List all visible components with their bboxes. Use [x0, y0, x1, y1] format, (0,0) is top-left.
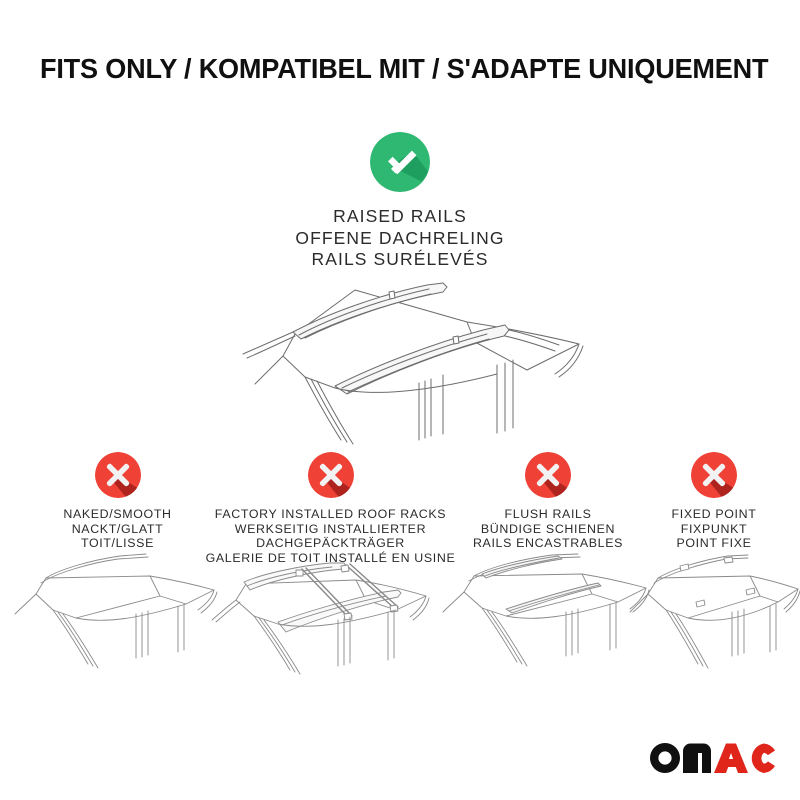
not-compatible-item-naked-smooth: NAKED/SMOOTH NACKT/GLATT TOIT/LISSE	[10, 452, 225, 551]
item-label-fr: POINT FIXE	[628, 536, 800, 551]
compatible-label-en: RAISED RAILS	[0, 206, 800, 228]
item-label-fr: RAILS ENCASTRABLES	[438, 536, 658, 551]
compatible-label-fr: RAILS SURÉLEVÉS	[0, 249, 800, 271]
car-roof-with-flush-rails-illustration	[438, 552, 658, 677]
item-label-en: FIXED POINT	[628, 507, 800, 522]
compatible-label-de: OFFENE DACHRELING	[0, 228, 800, 250]
not-compatible-item-factory-roof-racks: FACTORY INSTALLED ROOF RACKS WERKSEITIG …	[198, 452, 463, 565]
item-label-de: NACKT/GLATT	[10, 522, 225, 537]
item-label-en: FLUSH RAILS	[438, 507, 658, 522]
item-label-fr: TOIT/LISSE	[10, 536, 225, 551]
omac-logo: OMAC	[648, 740, 778, 776]
not-compatible-item-flush-rails: FLUSH RAILS BÜNDIGE SCHIENEN RAILS ENCAS…	[438, 452, 658, 551]
car-roof-with-fixed-points-illustration	[628, 552, 800, 677]
car-roof-with-raised-rails-illustration	[175, 278, 635, 458]
item-label-de: BÜNDIGE SCHIENEN	[438, 522, 658, 537]
item-labels: FIXED POINT FIXPUNKT POINT FIXE	[628, 507, 800, 551]
not-compatible-item-fixed-point: FIXED POINT FIXPUNKT POINT FIXE	[628, 452, 800, 551]
x-circle-icon	[95, 452, 141, 498]
item-label-en: FACTORY INSTALLED ROOF RACKS	[198, 507, 463, 522]
item-label-de: FIXPUNKT	[628, 522, 800, 537]
check-circle-icon	[370, 132, 430, 192]
item-label-en: NAKED/SMOOTH	[10, 507, 225, 522]
item-labels: NAKED/SMOOTH NACKT/GLATT TOIT/LISSE	[10, 507, 225, 551]
car-roof-with-factory-crossbars-illustration	[198, 562, 463, 680]
item-label-de-2: DACHGEPÄCKTRÄGER	[198, 536, 463, 551]
logo-text: OMAC	[648, 776, 649, 777]
item-labels: FACTORY INSTALLED ROOF RACKS WERKSEITIG …	[198, 507, 463, 565]
compatible-section: RAISED RAILS OFFENE DACHRELING RAILS SUR…	[0, 132, 800, 271]
page-title: FITS ONLY / KOMPATIBEL MIT / S'ADAPTE UN…	[40, 52, 759, 86]
x-circle-icon	[691, 452, 737, 498]
car-roof-naked-smooth-illustration	[10, 552, 225, 677]
x-circle-icon	[525, 452, 571, 498]
item-labels: FLUSH RAILS BÜNDIGE SCHIENEN RAILS ENCAS…	[438, 507, 658, 551]
not-compatible-section: NAKED/SMOOTH NACKT/GLATT TOIT/LISSE	[0, 452, 800, 702]
x-circle-icon	[308, 452, 354, 498]
compatible-labels: RAISED RAILS OFFENE DACHRELING RAILS SUR…	[0, 206, 800, 271]
item-label-de-1: WERKSEITIG INSTALLIERTER	[198, 522, 463, 537]
